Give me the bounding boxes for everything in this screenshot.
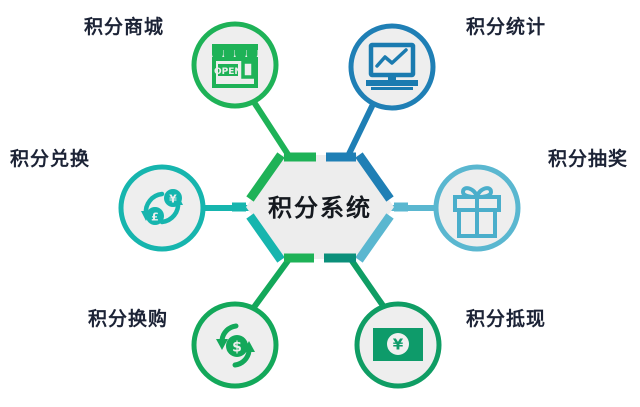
infographic-canvas: OPEN [0,0,640,407]
banknote-yuan-icon: ¥ [373,328,423,361]
svg-text:¥: ¥ [393,336,404,354]
svg-text:$: $ [232,340,242,356]
connector-stats [348,98,376,156]
connector-redeem [252,258,290,310]
connector-cash [350,258,386,310]
label-exchange: 积分兑换 [10,150,90,169]
connector-mall [250,96,289,156]
node-redeem[interactable]: $ [194,304,276,386]
center-title: 积分系统 [0,196,640,220]
label-redeem: 积分换购 [88,310,168,329]
label-cash: 积分抵现 [466,310,546,329]
node-stats[interactable] [351,26,433,108]
label-mall: 积分商城 [84,18,164,37]
svg-text:OPEN: OPEN [214,67,242,77]
node-mall[interactable]: OPEN [194,24,276,106]
label-stats: 积分统计 [466,18,546,37]
label-lottery: 积分抽奖 [548,150,628,169]
node-cash[interactable]: ¥ [357,304,439,386]
